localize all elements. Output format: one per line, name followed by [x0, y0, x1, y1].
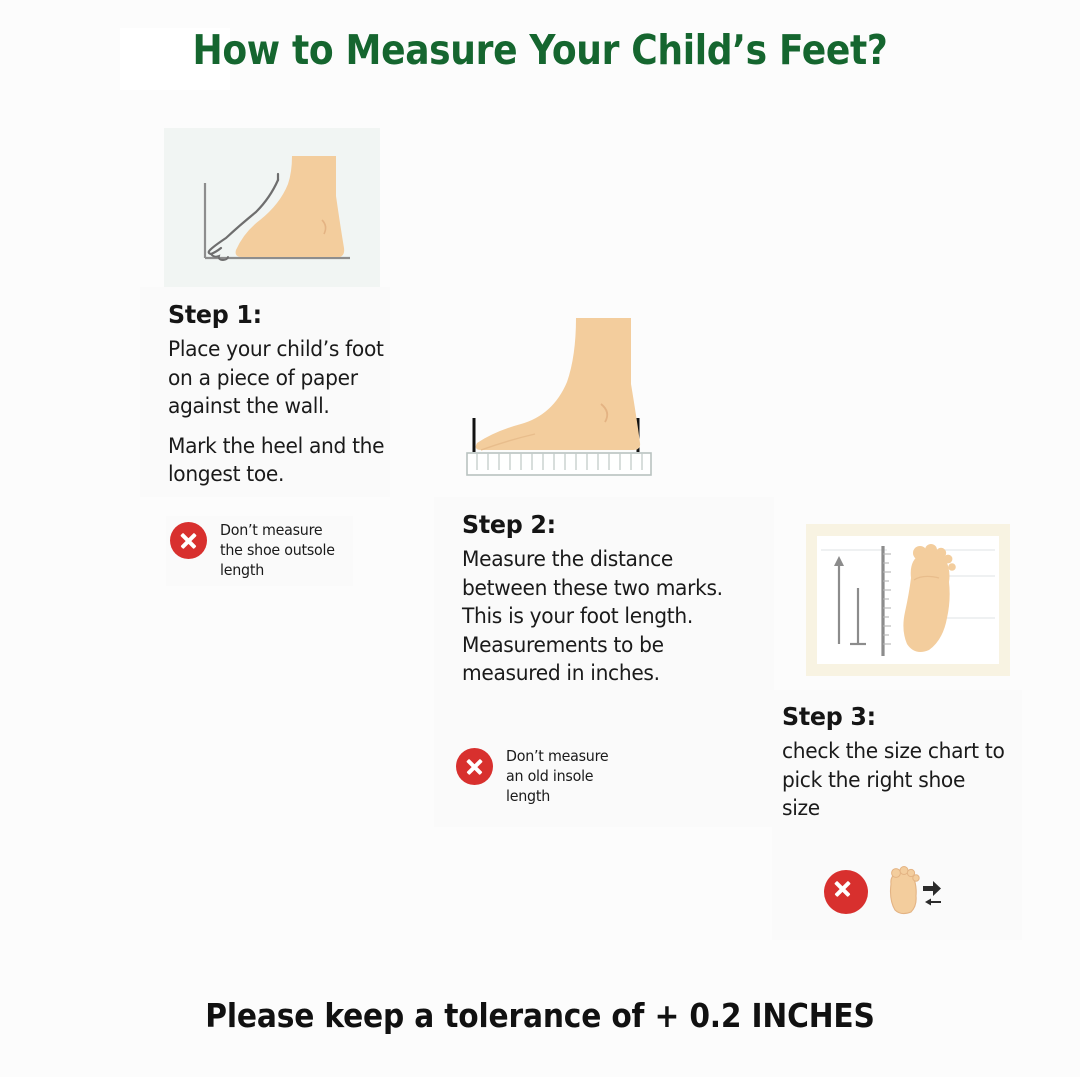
tolerance-note: Please keep a tolerance of + 0.2 INCHES: [54, 996, 1026, 1035]
step-2-warning: Don’t measure an old insole length: [452, 742, 654, 812]
red-x-circle-icon: [456, 748, 493, 785]
step-1-paragraph-2: Mark the heel and the longest toe.: [168, 433, 403, 490]
step-1-body: Place your child’s foot on a piece of pa…: [168, 336, 403, 490]
step-3-illustration: [806, 524, 1010, 676]
step-1-illustration: [164, 128, 380, 287]
step-3-heading: Step 3:: [782, 702, 1010, 731]
footprint-width-arrows-icon: [881, 866, 943, 918]
step-3-warning: [820, 862, 982, 924]
footprint-on-size-chart-icon: [817, 536, 999, 664]
step-2-heading: Step 2:: [462, 510, 757, 539]
step-2-body: Measure the distance between these two m…: [462, 546, 753, 689]
step-2-paragraph-1: Measure the distance between these two m…: [462, 546, 753, 689]
step-2-illustration: [455, 300, 685, 482]
page-title: How to Measure Your Child’s Feet?: [65, 26, 1015, 74]
step-1-warning-text: Don’t measure the shoe outsole length: [220, 520, 335, 580]
step-1-heading: Step 1:: [168, 300, 406, 329]
step-2-warning-text: Don’t measure an old insole length: [506, 746, 608, 806]
foot-profile-against-wall-icon: [164, 128, 380, 287]
step-1-text-block: Step 1: Place your child’s foot on a pie…: [168, 300, 418, 490]
foot-on-ruler-with-two-marks-icon: [455, 300, 685, 482]
step-1-paragraph-1: Place your child’s foot on a piece of pa…: [168, 336, 403, 422]
step-3-text-block: Step 3: check the size chart to pick the…: [782, 702, 1022, 824]
step-3-body: check the size chart to pick the right s…: [782, 738, 1008, 824]
step-1-warning: Don’t measure the shoe outsole length: [166, 516, 353, 586]
red-x-circle-icon: [824, 870, 868, 914]
step-2-text-block: Step 2: Measure the distance between the…: [462, 510, 772, 689]
step-3-paragraph-1: check the size chart to pick the right s…: [782, 738, 1008, 824]
infographic-canvas: How to Measure Your Child’s Feet? Step 1…: [0, 0, 1080, 1077]
red-x-circle-icon: [170, 522, 207, 559]
